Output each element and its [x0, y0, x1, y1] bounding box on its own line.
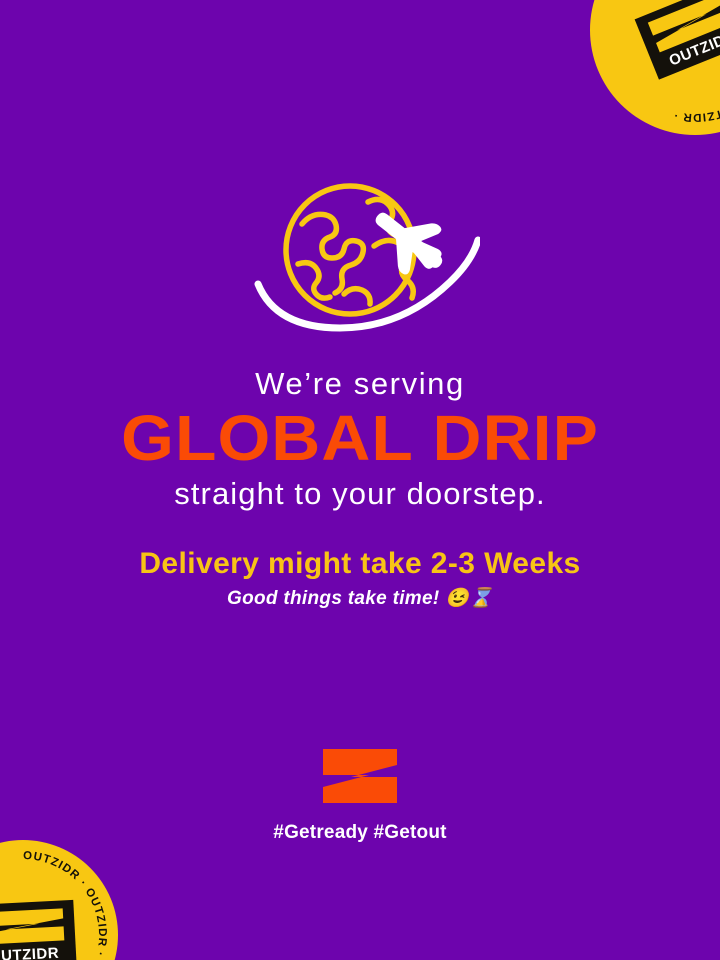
subline-text: straight to your doorstep.: [0, 478, 720, 509]
footer-lockup: #Getready #Getout: [0, 748, 720, 842]
outzidr-stamp-bottom-left: OUTZIDR · OUTZIDR · OUTZIDR · OUTZIDR · …: [0, 840, 118, 960]
stamp-z-icon-bottom-left: [0, 907, 66, 945]
promo-poster: OUTZIDR · OUTZIDR · OUTZIDR · OUTZIDR · …: [0, 0, 720, 960]
outzidr-z-logo-icon: [321, 748, 399, 804]
stamp-core-bar-bottom-left: OUTZIDR: [0, 900, 77, 960]
stamp-core-word-bottom-left: OUTZIDR: [0, 945, 67, 960]
outzidr-stamp-top-right: OUTZIDR · OUTZIDR · OUTZIDR · OUTZIDR · …: [590, 0, 720, 135]
globe-with-airplane-icon: [240, 172, 480, 340]
delivery-eta-text: Delivery might take 2-3 Weeks: [0, 549, 720, 579]
headline-text: GLOBAL DRIP: [0, 406, 720, 470]
reassurance-text: Good things take time! 😉⌛: [0, 589, 720, 608]
stamp-core-bottom-left: OUTZIDR: [0, 900, 77, 960]
eyebrow-text: We’re serving: [0, 368, 720, 399]
